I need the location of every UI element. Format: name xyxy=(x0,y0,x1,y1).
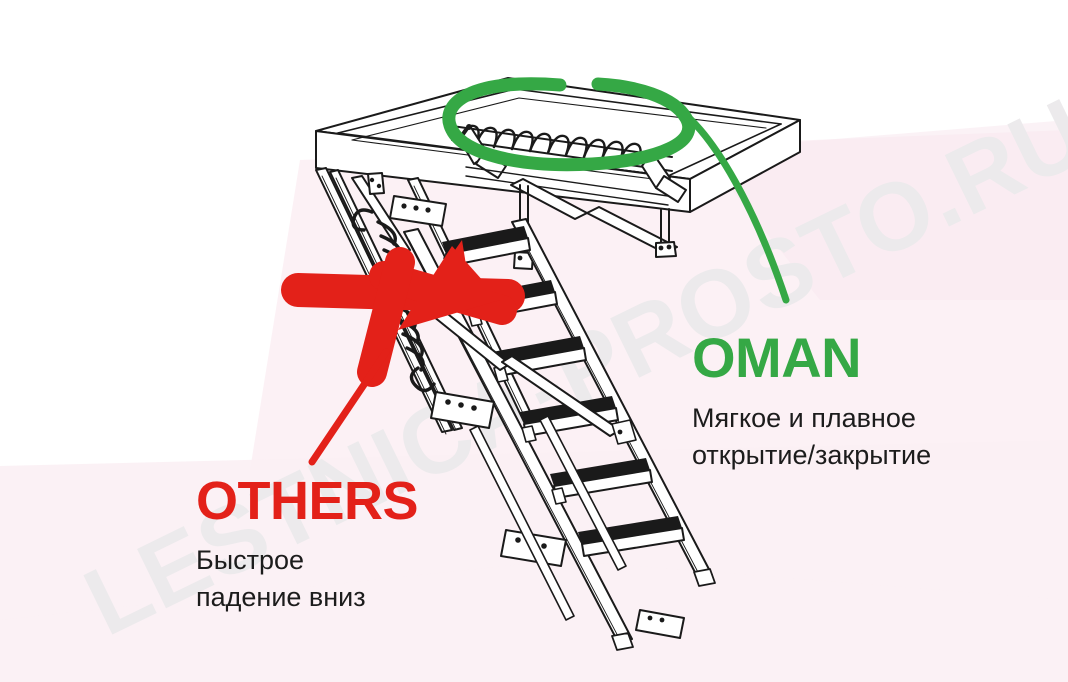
callout-others: OTHERS Быстрое падение вниз xyxy=(196,474,418,617)
callout-text-layer: OMAN Мягкое и плавное открытие/закрытие … xyxy=(0,0,1068,682)
promo-comparison-graphic: LESTNICA-PROSTO.RU xyxy=(0,0,1068,682)
oman-heading: OMAN xyxy=(692,330,931,386)
oman-caption-line-1: Мягкое и плавное xyxy=(692,400,931,437)
callout-oman: OMAN Мягкое и плавное открытие/закрытие xyxy=(692,330,931,475)
oman-caption-line-2: открытие/закрытие xyxy=(692,437,931,474)
others-caption-line-1: Быстрое xyxy=(196,542,418,579)
others-heading: OTHERS xyxy=(196,474,418,528)
others-caption-line-2: падение вниз xyxy=(196,579,418,616)
